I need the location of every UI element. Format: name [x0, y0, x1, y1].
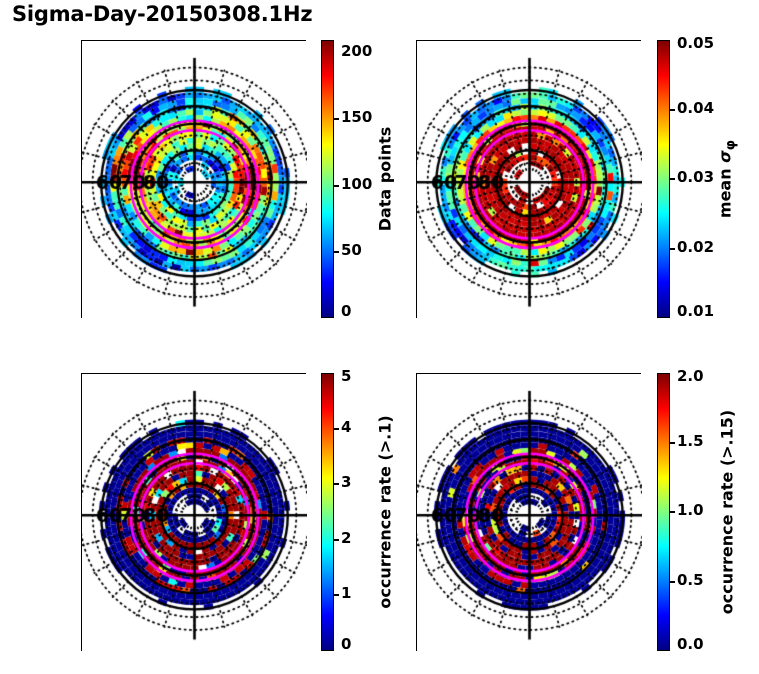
colorbar-tick-label-mean-sigma-phi-3: 0.04 [677, 101, 714, 116]
colorbar-occurrence-gt-0p15 [657, 373, 670, 651]
colorbar-tick-label-occurrence-rate-gt-0p15-2: 1.0 [677, 503, 704, 518]
polar-heatmap-mean-sigma-phi [417, 41, 642, 319]
colorbar-tick-label-data-points-4: 200 [341, 44, 372, 59]
colorbar-axis-label-mean-sigma-phi: mean σφ [715, 140, 738, 218]
colorbar-tick-data-points-1 [334, 251, 339, 253]
colorbar-tick-label-mean-sigma-phi-0: 0.01 [677, 304, 714, 319]
colorbar-tick-mean-sigma-phi-3 [670, 109, 675, 111]
figure-title: Sigma-Day-20150308.1Hz [12, 2, 312, 26]
colorbar-tick-label-occurrence-rate-gt-0p1-4: 4 [341, 420, 351, 435]
colorbar-tick-label-occurrence-rate-gt-0p1-5: 5 [341, 369, 351, 384]
colorbar-tick-label-occurrence-rate-gt-0p1-2: 2 [341, 531, 351, 546]
colorbar-tick-occurrence-rate-gt-0p1-1 [334, 594, 339, 596]
colorbar-tick-label-occurrence-rate-gt-0p1-0: 0 [341, 637, 351, 652]
colorbar-tick-mean-sigma-phi-2 [670, 178, 675, 180]
colorbar-tick-label-occurrence-rate-gt-0p1-1: 1 [341, 586, 351, 601]
colorbar-tick-label-occurrence-rate-gt-0p15-3: 1.5 [677, 434, 704, 449]
panel-data-points [81, 40, 306, 318]
colorbar-tick-label-occurrence-rate-gt-0p15-0: 0.0 [677, 637, 704, 652]
colorbar-tick-label-data-points-2: 100 [341, 177, 372, 192]
colorbar-tick-occurrence-rate-gt-0p1-4 [334, 428, 339, 430]
panel-occurrence-gt-0p1 [81, 373, 306, 651]
colorbar-tick-label-mean-sigma-phi-2: 0.03 [677, 170, 714, 185]
colorbar-tick-label-occurrence-rate-gt-0p15-1: 0.5 [677, 573, 704, 588]
colorbar-tick-label-data-points-1: 50 [341, 243, 362, 258]
polar-heatmap-occurrence-gt-0p1 [82, 374, 307, 652]
polar-heatmap-occurrence-gt-0p15 [417, 374, 642, 652]
colorbar-tick-occurrence-rate-gt-0p1-3 [334, 483, 339, 485]
panel-occurrence-gt-0p15 [416, 373, 641, 651]
colorbar-axis-label-occurrence-rate-gt-0p15: occurrence rate (>.15) [718, 410, 737, 614]
colorbar-tick-data-points-3 [334, 118, 339, 120]
colorbar-tick-label-mean-sigma-phi-1: 0.02 [677, 240, 714, 255]
colorbar-occurrence-gt-0p1 [321, 373, 334, 651]
colorbar-tick-label-data-points-0: 0 [341, 304, 351, 319]
colorbar-tick-data-points-2 [334, 185, 339, 187]
colorbar-tick-label-data-points-3: 150 [341, 110, 372, 125]
colorbar-tick-mean-sigma-phi-1 [670, 248, 675, 250]
colorbar-tick-occurrence-rate-gt-0p15-3 [670, 442, 675, 444]
colorbar-tick-label-occurrence-rate-gt-0p15-4: 2.0 [677, 369, 704, 384]
figure-root: Sigma-Day-20150308.1Hz 050100150200Data … [0, 0, 759, 674]
colorbar-data-points [321, 40, 334, 318]
colorbar-tick-occurrence-rate-gt-0p1-2 [334, 539, 339, 541]
panel-mean-sigma-phi [416, 40, 641, 318]
colorbar-tick-label-occurrence-rate-gt-0p1-3: 3 [341, 475, 351, 490]
colorbar-tick-label-mean-sigma-phi-4: 0.05 [677, 36, 714, 51]
polar-heatmap-data-points [82, 41, 307, 319]
colorbar-axis-label-data-points: Data points [376, 127, 395, 232]
colorbar-mean-sigma-phi [657, 40, 670, 318]
colorbar-axis-label-occurrence-rate-gt-0p1: occurrence rate (>.1) [376, 415, 395, 608]
colorbar-tick-occurrence-rate-gt-0p15-2 [670, 511, 675, 513]
colorbar-tick-occurrence-rate-gt-0p15-1 [670, 581, 675, 583]
